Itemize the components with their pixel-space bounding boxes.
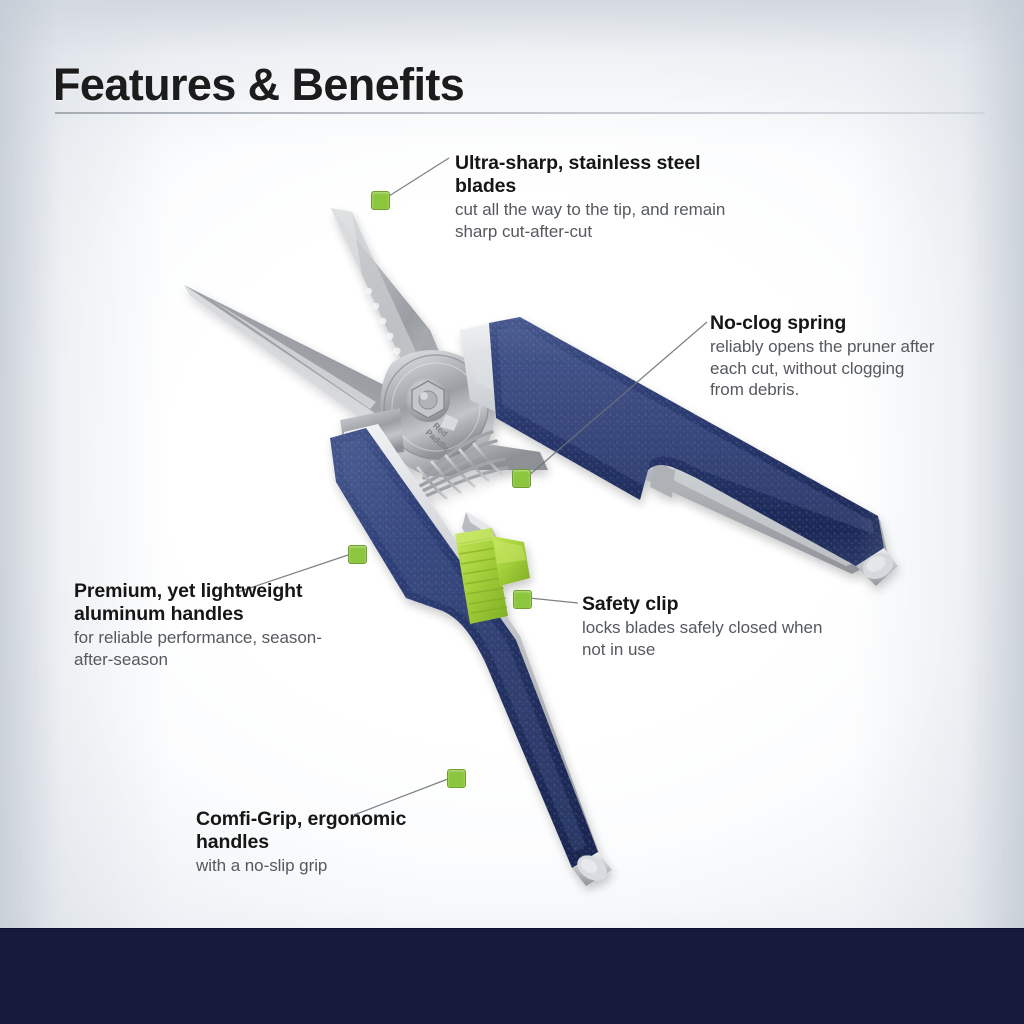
callout-comfigrip: Comfi-Grip, ergonomic handles with a no-… (196, 808, 446, 877)
feature-marker-spring[interactable] (512, 469, 531, 488)
feature-marker-comfigrip[interactable] (447, 769, 466, 788)
callout-comfigrip-subtitle: with a no-slip grip (196, 855, 446, 876)
pivot-bolt (406, 378, 450, 422)
callout-blades-subtitle: cut all the way to the tip, and remain s… (455, 199, 735, 242)
feature-marker-safety[interactable] (513, 590, 532, 609)
callout-spring-title: No-clog spring (710, 312, 940, 335)
callout-aluminum: Premium, yet lightweight aluminum handle… (74, 580, 324, 670)
infographic-page: Red Paddle (0, 0, 1024, 1024)
callout-spring: No-clog spring reliably opens the pruner… (710, 312, 940, 400)
callout-safety-title: Safety clip (582, 593, 832, 616)
callout-blades: Ultra-sharp, stainless steel blades cut … (455, 152, 735, 242)
callout-blades-title: Ultra-sharp, stainless steel blades (455, 152, 735, 198)
callout-safety-subtitle: locks blades safely closed when not in u… (582, 617, 832, 660)
title-divider (55, 112, 985, 114)
feature-marker-aluminum[interactable] (348, 545, 367, 564)
callout-comfigrip-title: Comfi-Grip, ergonomic handles (196, 808, 446, 854)
page-title: Features & Benefits (53, 62, 464, 107)
header: Features & Benefits (0, 0, 1024, 118)
bottom-color-band (0, 928, 1024, 1024)
callout-aluminum-subtitle: for reliable performance, season-after-s… (74, 627, 324, 670)
callout-spring-subtitle: reliably opens the pruner after each cut… (710, 336, 940, 400)
callout-aluminum-title: Premium, yet lightweight aluminum handle… (74, 580, 324, 626)
callout-safety: Safety clip locks blades safely closed w… (582, 593, 832, 660)
feature-marker-blades[interactable] (371, 191, 390, 210)
